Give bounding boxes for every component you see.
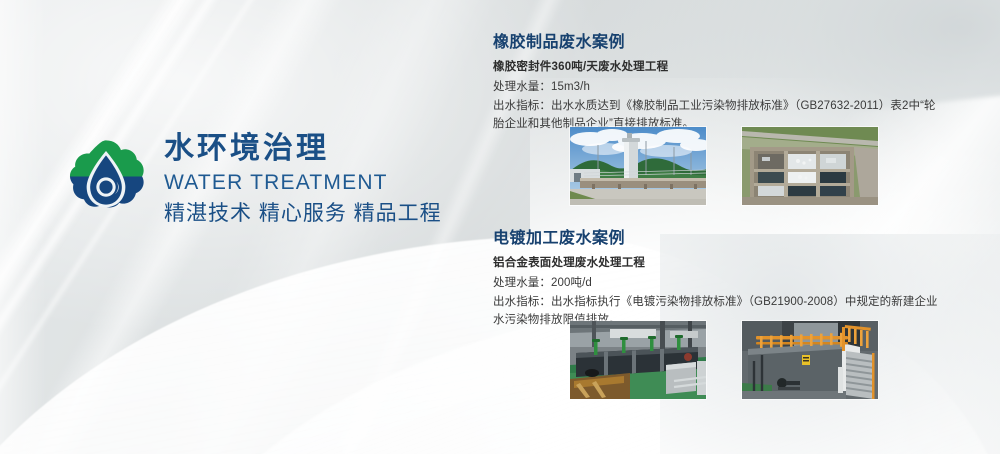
case-standard-line-1: 出水指标：出水水质达到《橡胶制品工业污染物排放标准》（GB27632-2011）… <box>493 97 1000 116</box>
photo-rubber-aerial-basins[interactable] <box>742 127 878 205</box>
photo-rubber-plant-exterior[interactable] <box>570 127 706 205</box>
brand-lockup: 水环境治理 WATER TREATMENT 精湛技术 精心服务 精品工程 <box>62 132 442 228</box>
case-photo-row-rubber <box>570 127 878 205</box>
brand-text-group: 水环境治理 WATER TREATMENT 精湛技术 精心服务 精品工程 <box>164 132 442 228</box>
case-block-plating: 电镀加工废水案例 铝合金表面处理废水处理工程 处理水量：200吨/d 出水指标：… <box>493 224 953 330</box>
case-block-rubber: 橡胶制品废水案例 橡胶密封件360吨/天废水处理工程 处理水量：15m3/h 出… <box>493 28 953 134</box>
case-capacity: 处理水量：15m3/h <box>493 78 953 97</box>
brand-slogan: 精湛技术 精心服务 精品工程 <box>164 199 442 228</box>
water-drop-flower-logo-icon <box>62 136 150 224</box>
case-standard-line-1: 出水指标：出水指标执行《电镀污染物排放标准》（GB21900-2008）中规定的… <box>493 293 1000 312</box>
case-capacity: 处理水量：200吨/d <box>493 274 953 293</box>
case-title: 橡胶制品废水案例 <box>493 28 953 52</box>
brand-title-en: WATER TREATMENT <box>164 168 442 197</box>
photo-plating-indoor-tanks[interactable] <box>570 321 706 399</box>
case-photo-row-plating <box>570 321 878 399</box>
case-title: 电镀加工废水案例 <box>493 224 953 248</box>
photo-plating-concrete-tank[interactable] <box>742 321 878 399</box>
brand-title-cn: 水环境治理 <box>164 132 442 167</box>
background-left-rail <box>0 0 46 454</box>
case-subtitle: 橡胶密封件360吨/天废水处理工程 <box>493 58 953 74</box>
case-subtitle: 铝合金表面处理废水处理工程 <box>493 254 953 270</box>
